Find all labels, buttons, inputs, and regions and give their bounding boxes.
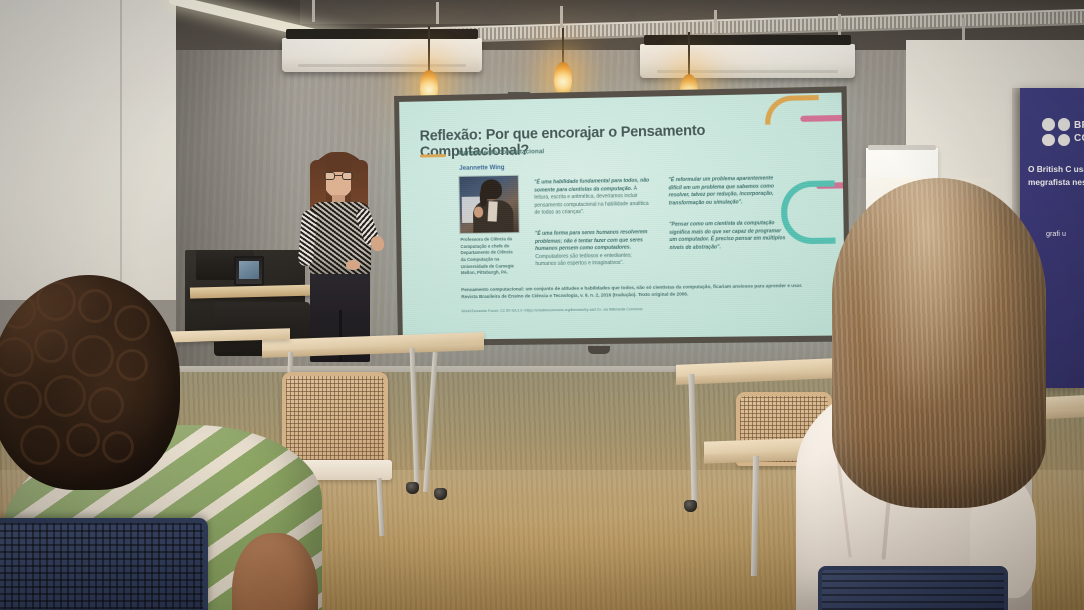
photo-hand bbox=[474, 207, 483, 218]
quote-2: "É uma forma para seres humanos resolver… bbox=[535, 229, 654, 269]
british-council-logo-icon bbox=[1042, 118, 1070, 146]
table-caster bbox=[434, 488, 447, 500]
quote-2-rest: Computadores são tediosos e entediantes;… bbox=[535, 252, 632, 267]
presenter-glasses bbox=[324, 172, 353, 180]
photo-hair bbox=[481, 179, 502, 199]
slide-source-line: World Economic Forum, CC BY-SA 2.0 <http… bbox=[461, 306, 767, 315]
pendant-cord bbox=[428, 26, 430, 74]
quote-1-emphasis: "É uma habilidade fundamental para todos… bbox=[534, 178, 649, 194]
pendant-cord bbox=[562, 28, 564, 66]
wall-seam bbox=[120, 0, 122, 300]
quote-3: "É reformular um problema aparentemente … bbox=[668, 175, 788, 208]
tray-hanger bbox=[714, 10, 717, 32]
left-wall-panel bbox=[0, 0, 176, 300]
blue-chair-back[interactable] bbox=[0, 518, 208, 610]
banner-brand-line2: CO bbox=[1074, 133, 1084, 146]
orange-dash-accent bbox=[420, 154, 446, 157]
projection-screen[interactable]: Reflexão: Por que encorajar o Pensamento… bbox=[394, 86, 851, 346]
banner-brand-text: BR CO bbox=[1074, 120, 1084, 145]
slide-person-name: Jeannette Wing bbox=[459, 164, 504, 172]
slide-footnote: Pensamento computacional: um conjunto de… bbox=[461, 282, 808, 301]
quote-4-emphasis: "Pensar como um cientista da computação … bbox=[669, 220, 785, 251]
presentation-slide: Reflexão: Por que encorajar o Pensamento… bbox=[399, 93, 845, 340]
banner-brand-line1: BR bbox=[1074, 120, 1084, 133]
tray-hanger bbox=[436, 2, 439, 24]
photo-caption: Professora de Ciência da Computação e ch… bbox=[460, 236, 517, 277]
ac-unit bbox=[282, 38, 482, 72]
presenter-hand-left bbox=[346, 260, 360, 270]
student-right-hair-highlight bbox=[832, 178, 1046, 508]
table-caster bbox=[406, 482, 419, 494]
quote-4: "Pensar como um cientista da computação … bbox=[669, 220, 789, 253]
presenter-hand-right bbox=[369, 234, 386, 252]
pendant-cord bbox=[688, 32, 690, 78]
jeannette-wing-photo bbox=[459, 176, 518, 233]
pendant-light-bulb bbox=[554, 62, 572, 96]
scene-photograph: Reflexão: Por que encorajar o Pensamento… bbox=[0, 0, 1084, 610]
screen-frame: Reflexão: Por que encorajar o Pensamento… bbox=[394, 86, 851, 346]
blue-chair-back[interactable] bbox=[818, 566, 1008, 610]
tray-hanger bbox=[838, 14, 841, 36]
student-left-hair bbox=[0, 275, 180, 490]
student-left-curls bbox=[0, 275, 180, 490]
tray-hanger bbox=[962, 18, 965, 40]
photo-shirt bbox=[488, 201, 498, 222]
tray-hanger bbox=[560, 6, 563, 28]
student-right bbox=[792, 178, 1084, 610]
flipchart-clip bbox=[868, 145, 936, 150]
quote-1: "É uma habilidade fundamental para todos… bbox=[534, 178, 653, 218]
ac-unit bbox=[640, 44, 855, 78]
quote-2-emphasis: "É uma forma para seres humanos resolver… bbox=[535, 229, 648, 252]
table-caster bbox=[684, 500, 697, 512]
screen-mount-bottom bbox=[588, 346, 610, 354]
quote-3-emphasis: "É reformular um problema aparentemente … bbox=[668, 175, 774, 206]
tray-hanger bbox=[312, 0, 315, 22]
